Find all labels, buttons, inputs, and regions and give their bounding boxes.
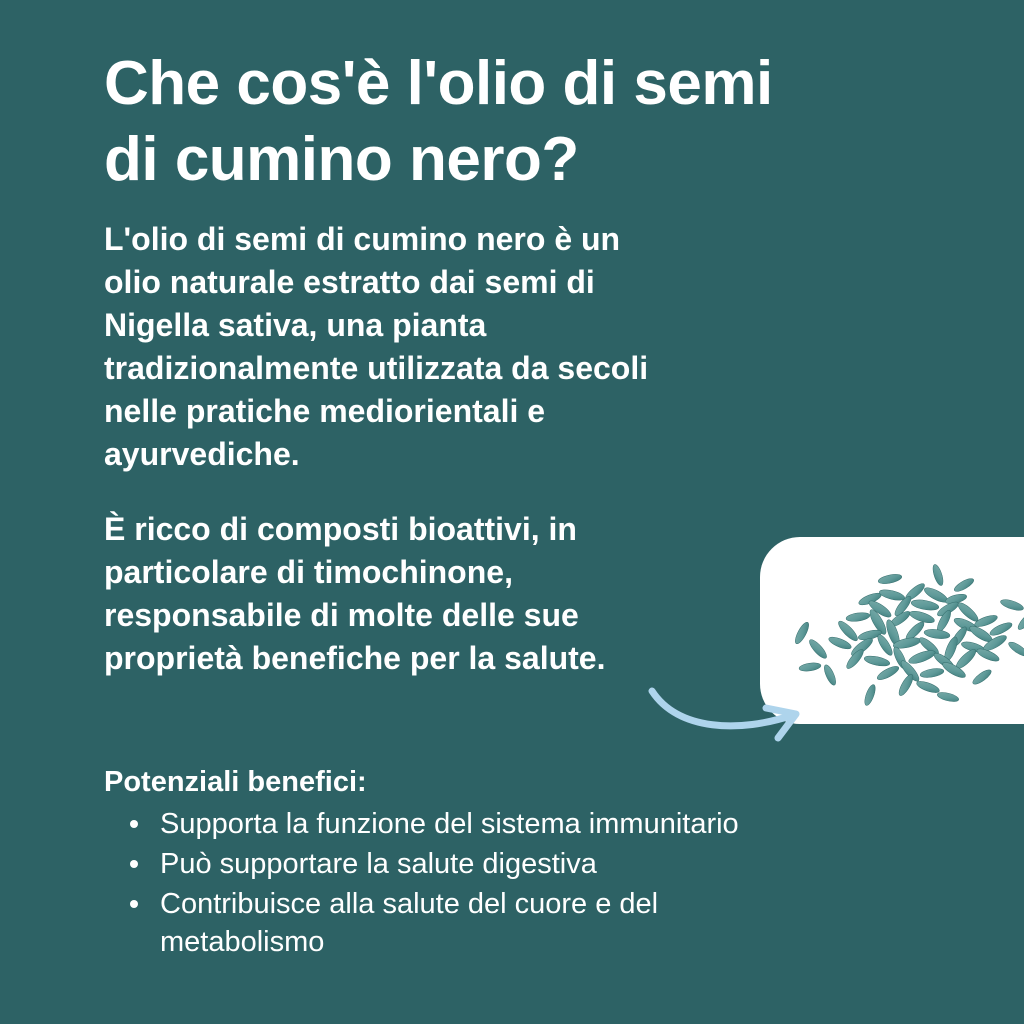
list-item: Supporta la funzione del sistema immunit… [104, 805, 804, 843]
benefits-list: Supporta la funzione del sistema immunit… [104, 805, 804, 961]
benefit-text: Contribuisce alla salute del cuore e del… [160, 888, 658, 958]
benefits-heading: Potenziali benefici: [104, 763, 804, 801]
seed-pile-illustration [760, 537, 1024, 724]
poster-canvas: Che cos'è l'olio di semi di cumino nero?… [0, 0, 1024, 1024]
benefits-section: Potenziali benefici: Supporta la funzion… [104, 763, 804, 963]
page-title: Che cos'è l'olio di semi di cumino nero? [104, 46, 934, 198]
paragraph-compounds: È ricco di composti bioattivi, in partic… [104, 508, 784, 680]
benefit-text: Può supportare la salute digestiva [160, 848, 597, 880]
seed-image-card [760, 537, 1024, 724]
paragraph-compounds-block: È ricco di composti bioattivi, in partic… [104, 508, 784, 680]
bullet-icon [130, 900, 138, 908]
paragraph-intro: L'olio di semi di cumino nero è un olio … [104, 218, 784, 476]
list-item: Può supportare la salute digestiva [104, 845, 804, 883]
bullet-icon [130, 860, 138, 868]
paragraph-intro-block: L'olio di semi di cumino nero è un olio … [104, 218, 784, 476]
benefit-text: Supporta la funzione del sistema immunit… [160, 808, 739, 840]
list-item: Contribuisce alla salute del cuore e del… [104, 885, 804, 961]
bullet-icon [130, 820, 138, 828]
